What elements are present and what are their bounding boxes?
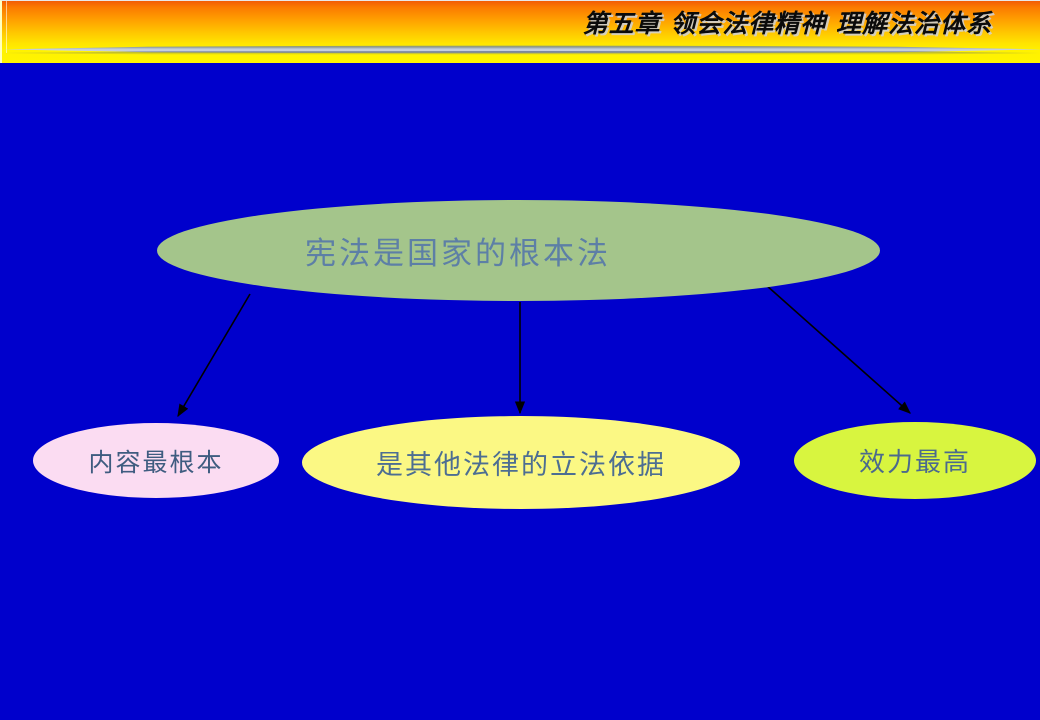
node-effect-label: 效力最高 xyxy=(794,442,1036,479)
connector-root-to-effect xyxy=(766,285,910,413)
connector-root-to-content xyxy=(178,294,250,416)
diagram-area: 宪法是国家的根本法 内容最根本 是其他法律的立法依据 效力最高 xyxy=(0,63,1040,720)
slide-header-banner: 第五章 领会法律精神 理解法治体系 xyxy=(0,0,1040,63)
node-basis-label: 是其他法律的立法依据 xyxy=(302,443,740,482)
node-highest-effect[interactable]: 效力最高 xyxy=(794,422,1036,499)
node-root-label: 宪法是国家的根本法 xyxy=(157,228,880,273)
header-accent-bar-shadow xyxy=(2,51,1040,55)
connector-layer xyxy=(0,63,1040,720)
chapter-title: 第五章 领会法律精神 理解法治体系 xyxy=(583,8,992,40)
node-root-constitution[interactable]: 宪法是国家的根本法 xyxy=(157,200,880,301)
slide-canvas: 第五章 领会法律精神 理解法治体系 宪法是国家的根本法 内容最根本 是其他法律的… xyxy=(0,0,1040,720)
node-content-label: 内容最根本 xyxy=(33,443,279,479)
node-content-most-fundamental[interactable]: 内容最根本 xyxy=(33,423,279,498)
node-legislative-basis[interactable]: 是其他法律的立法依据 xyxy=(302,416,740,509)
header-hairline xyxy=(6,1,7,53)
